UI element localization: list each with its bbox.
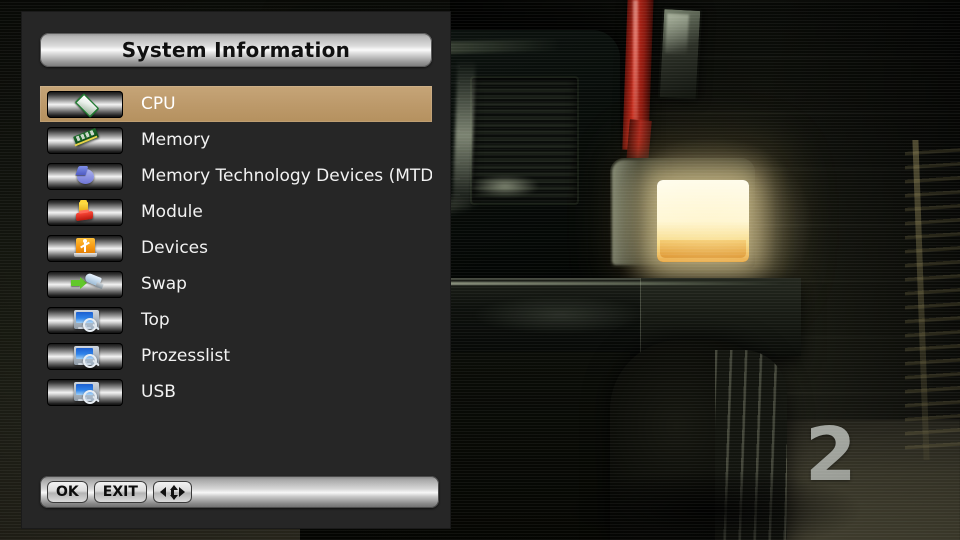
usb-device-box-icon xyxy=(47,235,123,262)
menu-list: CPU Memory Memory Technology Devices (MT… xyxy=(40,86,432,410)
button-bar: OK EXIT xyxy=(40,476,439,508)
lego-bricks-icon xyxy=(47,199,123,226)
exhaust-stack-base xyxy=(626,119,652,163)
cpu-chip-icon xyxy=(47,91,123,118)
menu-item-mtd[interactable]: Memory Technology Devices (MTD xyxy=(40,158,432,194)
menu-item-label: Swap xyxy=(141,274,187,294)
panel-title-bar: System Information xyxy=(40,33,432,67)
ladder-rack xyxy=(905,148,960,452)
menu-item-prozesslist[interactable]: Prozesslist xyxy=(40,338,432,374)
swap-usb-stick-icon xyxy=(47,271,123,298)
monitor-magnifier-icon xyxy=(47,379,123,406)
arrow-right-icon xyxy=(179,487,185,497)
arrow-left-icon xyxy=(160,487,166,497)
pie-chart-icon xyxy=(47,163,123,190)
system-information-panel: System Information CPU Memory xyxy=(22,12,450,528)
headlight-amber-lens xyxy=(660,240,746,258)
menu-item-label: CPU xyxy=(141,94,176,114)
menu-item-memory[interactable]: Memory xyxy=(40,122,432,158)
menu-item-label: Module xyxy=(141,202,203,222)
arrow-up-down-icon xyxy=(168,485,177,500)
menu-item-swap[interactable]: Swap xyxy=(40,266,432,302)
ram-module-icon xyxy=(47,127,123,154)
dpad-arrows-icon[interactable] xyxy=(153,481,192,503)
menu-item-module[interactable]: Module xyxy=(40,194,432,230)
menu-item-label: Devices xyxy=(141,238,208,258)
menu-item-devices[interactable]: Devices xyxy=(40,230,432,266)
menu-item-label: Top xyxy=(141,310,170,330)
monitor-magnifier-icon xyxy=(47,307,123,334)
truck-mirror-highlight xyxy=(665,13,689,54)
menu-item-label: USB xyxy=(141,382,176,402)
ok-button[interactable]: OK xyxy=(47,481,88,503)
fender-highlight-2 xyxy=(470,175,540,197)
page-title: System Information xyxy=(122,38,350,62)
menu-item-usb[interactable]: USB xyxy=(40,374,432,410)
menu-item-top[interactable]: Top xyxy=(40,302,432,338)
bumper-specular xyxy=(470,295,650,335)
menu-item-label: Memory xyxy=(141,130,210,150)
menu-item-cpu[interactable]: CPU xyxy=(40,86,432,122)
exit-button[interactable]: EXIT xyxy=(94,481,147,503)
menu-item-label: Memory Technology Devices (MTD xyxy=(141,166,432,186)
monitor-magnifier-icon xyxy=(47,343,123,370)
menu-item-label: Prozesslist xyxy=(141,346,230,366)
channel-watermark: 2 xyxy=(805,418,855,492)
tv-screen: 2 System Information CPU Memory xyxy=(0,0,960,540)
